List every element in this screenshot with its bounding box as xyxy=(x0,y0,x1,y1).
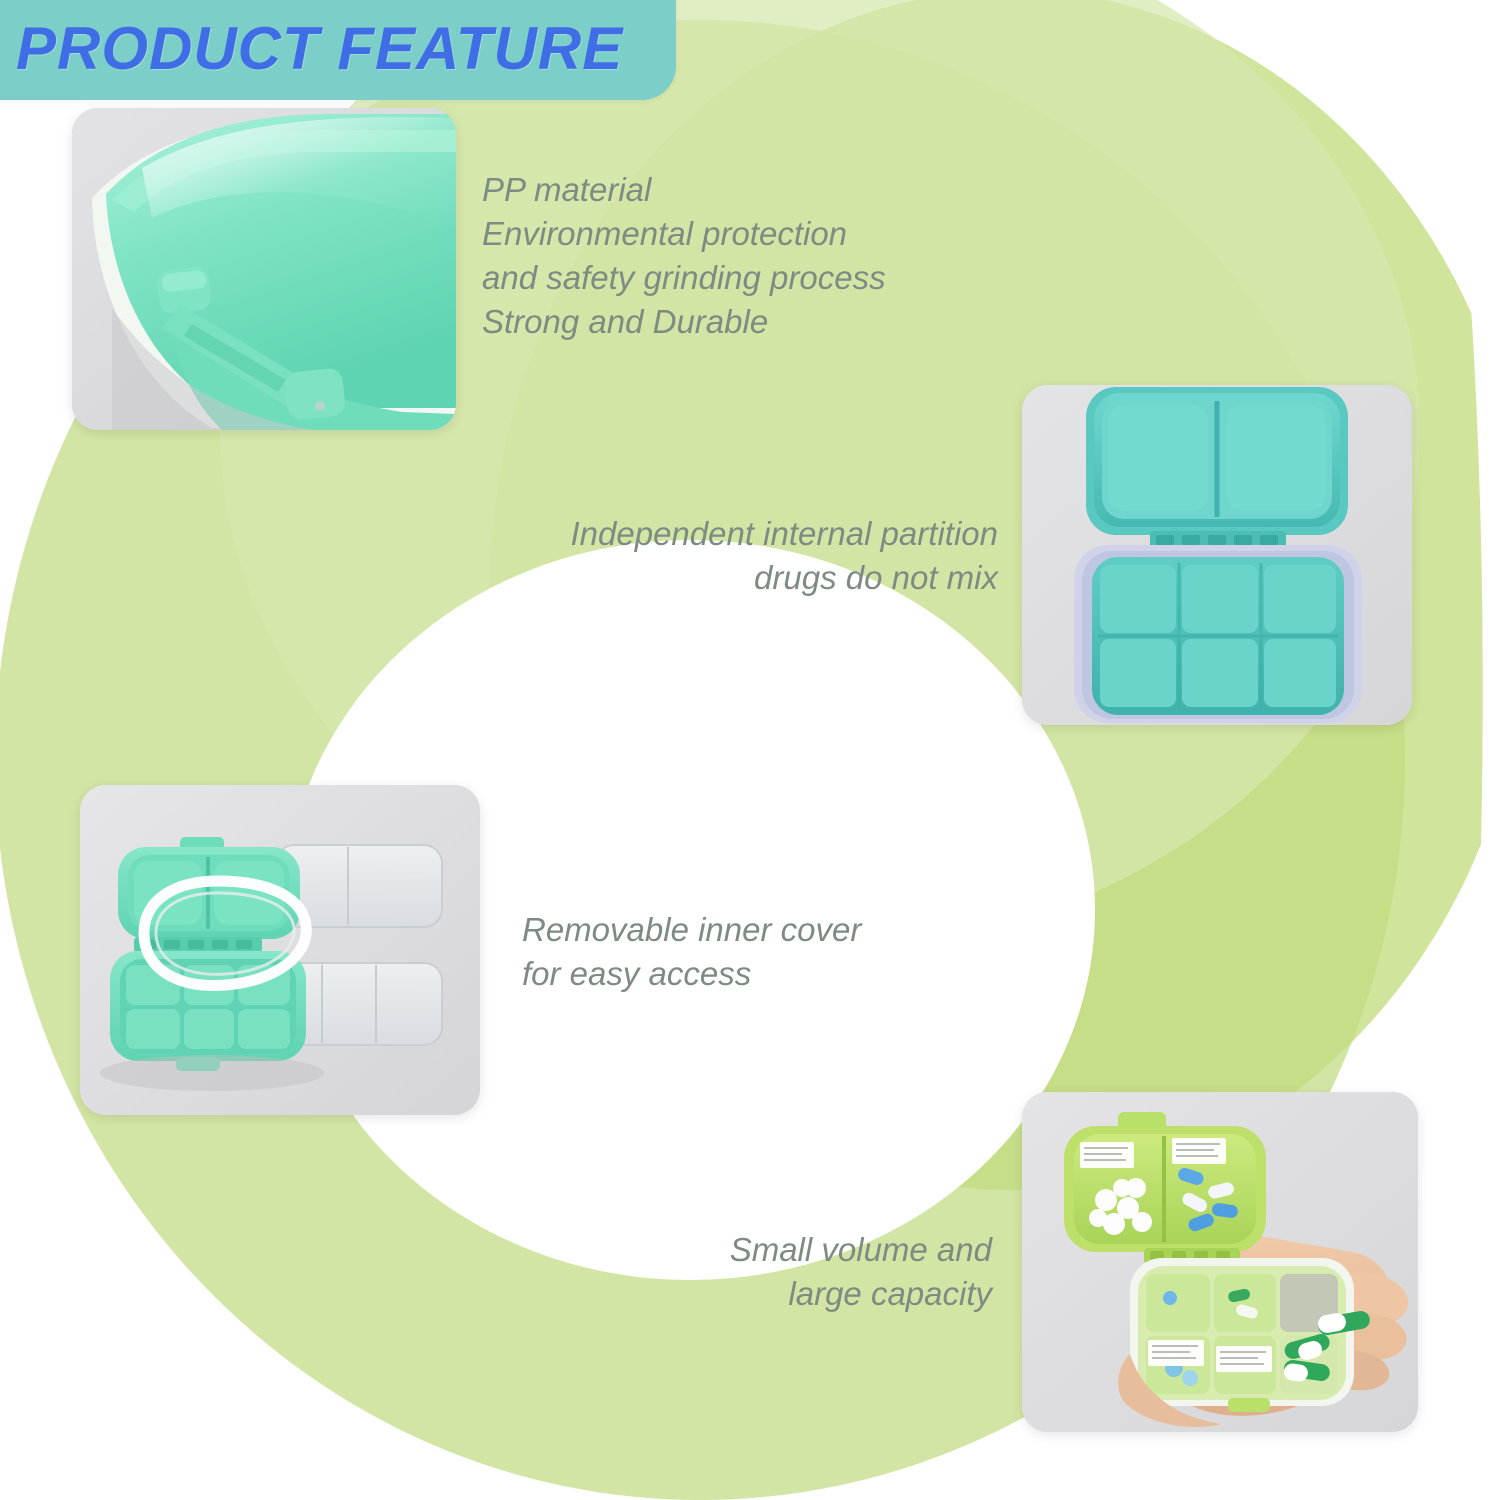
feature-text-small-volume: Small volume and large capacity xyxy=(690,1228,992,1316)
feature-text-internal-partition: Independent internal partition drugs do … xyxy=(520,512,998,600)
feature-text-pp-material: PP material Environmental protection and… xyxy=(482,168,952,344)
ground-shadow xyxy=(100,1055,324,1091)
feature-text-removable-cover: Removable inner cover for easy access xyxy=(522,908,922,996)
filled-box-lid xyxy=(1064,1112,1266,1252)
open-box-illustration xyxy=(1022,385,1412,725)
photo-card-open-compartments xyxy=(1022,385,1412,725)
page-title-banner: PRODUCT FEATURE xyxy=(0,0,676,100)
clasp-lower-tab xyxy=(284,367,347,421)
photo-card-latch-closeup xyxy=(72,108,456,430)
photo-card-removable-cover xyxy=(80,785,480,1115)
photo-card-hand-holding xyxy=(1022,1092,1418,1432)
latch-closeup-illustration xyxy=(72,108,456,430)
infographic-stage: PRODUCT FEATURE xyxy=(0,0,1500,1500)
removable-cover-illustration xyxy=(80,785,480,1115)
page-title: PRODUCT FEATURE xyxy=(16,14,623,83)
box-lid xyxy=(1086,387,1348,535)
mint-box-hinge xyxy=(134,937,262,953)
box-base xyxy=(1074,545,1362,723)
hand-holding-illustration xyxy=(1022,1092,1418,1432)
filled-box-base xyxy=(1130,1258,1371,1412)
